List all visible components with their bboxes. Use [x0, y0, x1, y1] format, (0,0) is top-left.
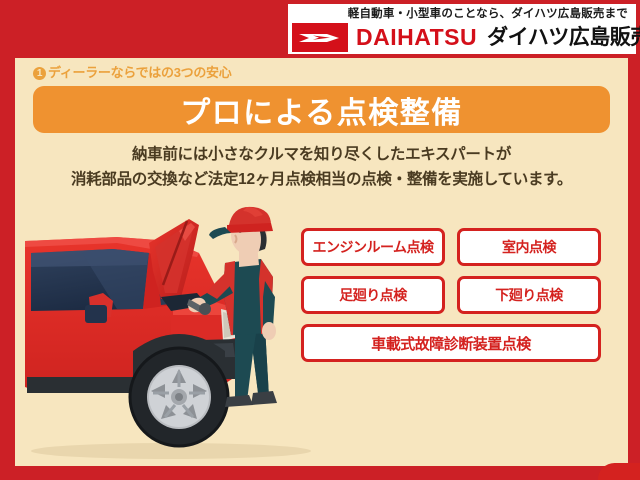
check-item-suspension[interactable]: 足廻り点検 [301, 276, 445, 314]
promo-slide: 軽自動車・小型車のことなら、ダイハツ広島販売まで DAIHATSU ダイハツ広島… [0, 0, 640, 480]
content-panel: 1ディーラーならではの3つの安心 プロによる点検整備 納車前には小さなクルマを知… [15, 58, 628, 466]
header-tagline: 軽自動車・小型車のことなら、ダイハツ広島販売まで [298, 6, 628, 22]
eyebrow-number-badge: 1 [33, 67, 46, 80]
brand-name-jp: ダイハツ広島販売 [487, 23, 640, 52]
description-line-2: 消耗部品の交換など法定12ヶ月点検相当の点検・整備を実施しています。 [33, 167, 610, 192]
daihatsu-logo-icon [292, 23, 348, 52]
inspection-checklist: エンジンルーム点検 室内点検 足廻り点検 下廻り点検 車載式故障診断装置点検 詳… [301, 228, 613, 372]
eyebrow-label: ディーラーならではの3つの安心 [48, 65, 231, 80]
check-item-obd-diagnostics[interactable]: 車載式故障診断装置点検 [301, 324, 601, 362]
check-item-underbody[interactable]: 下廻り点検 [457, 276, 601, 314]
checklist-row: 足廻り点検 下廻り点検 [301, 276, 613, 314]
eyebrow: 1ディーラーならではの3つの安心 [33, 62, 231, 81]
check-item-engine-room[interactable]: エンジンルーム点検 [301, 228, 445, 266]
description-line-1: 納車前には小さなクルマを知り尽くしたエキスパートが [33, 142, 610, 167]
brand-wordmark: DAIHATSU [356, 23, 477, 52]
section-title-bar: プロによる点検整備 [33, 86, 610, 133]
checklist-row: エンジンルーム点検 室内点検 [301, 228, 613, 266]
checklist-row: 車載式故障診断装置点検 [301, 324, 613, 362]
description-text: 納車前には小さなクルマを知り尽くしたエキスパートが 消耗部品の交換など法定12ヶ… [33, 142, 610, 192]
section-title: プロによる点検整備 [180, 88, 463, 132]
cta-button[interactable]: 詳しくはU-CATCHで [598, 463, 640, 480]
brand-lockup: DAIHATSU ダイハツ広島販売 [292, 23, 636, 52]
mechanic-inspecting-car-illustration [21, 201, 317, 466]
header-band: 軽自動車・小型車のことなら、ダイハツ広島販売まで DAIHATSU ダイハツ広島… [0, 0, 640, 58]
check-item-interior[interactable]: 室内点検 [457, 228, 601, 266]
